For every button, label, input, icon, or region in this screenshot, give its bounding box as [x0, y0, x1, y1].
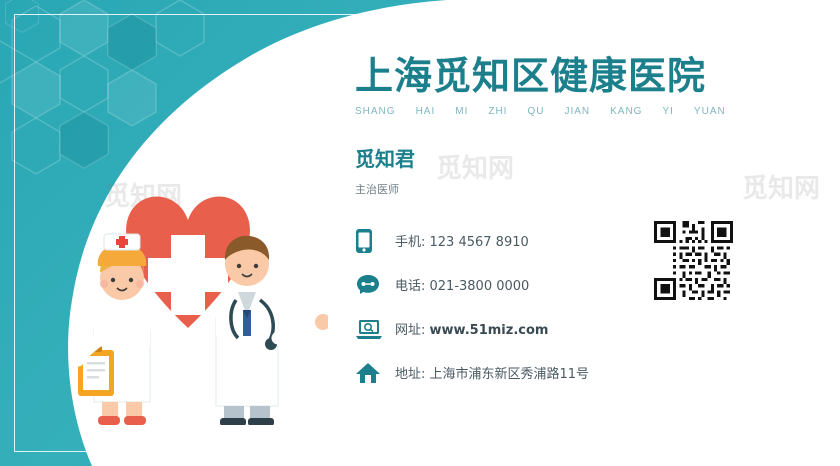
- pinyin-syllable: YI: [662, 106, 673, 117]
- business-card: 觅知网 觅知网 觅知网: [0, 0, 840, 466]
- contact-row-website: 网址: www.51miz.com: [355, 307, 825, 351]
- hospital-name: 上海觅知区健康医院: [355, 56, 825, 98]
- telephone-icon: [355, 273, 395, 297]
- person-title: 主治医师: [355, 181, 825, 197]
- pinyin-syllable: ZHI: [488, 106, 507, 117]
- pinyin-syllable: YUAN: [694, 106, 726, 117]
- doctor-nurse-illustration: [38, 160, 328, 425]
- card-content: 上海觅知区健康医院 SHANG HAI MI ZHI QU JIAN KANG …: [355, 56, 825, 395]
- laptop-icon: [355, 318, 395, 340]
- home-icon: [355, 361, 395, 385]
- pinyin-syllable: JIAN: [564, 106, 590, 117]
- person-name: 觅知君: [355, 143, 825, 172]
- contact-row-telephone: 电话: 021-3800 0000: [355, 263, 825, 307]
- contact-row-mobile: 手机: 123 4567 8910: [355, 219, 825, 263]
- pinyin-syllable: QU: [527, 106, 544, 117]
- pinyin-syllable: HAI: [416, 106, 436, 117]
- contact-website-value: www.51miz.com: [430, 323, 549, 338]
- contact-address-text: 地址: 上海市浦东新区秀浦路11号: [395, 363, 589, 382]
- pinyin-syllable: KANG: [610, 106, 642, 117]
- contact-mobile-text: 手机: 123 4567 8910: [395, 231, 529, 250]
- contact-telephone-text: 电话: 021-3800 0000: [395, 275, 529, 294]
- qr-code: [654, 221, 733, 300]
- nurse-figure: [78, 234, 150, 425]
- hospital-name-pinyin: SHANG HAI MI ZHI QU JIAN KANG YI YUAN: [355, 106, 825, 117]
- mobile-phone-icon: [355, 228, 395, 254]
- pinyin-syllable: MI: [455, 106, 468, 117]
- contact-website-text: 网址: www.51miz.com: [395, 319, 548, 338]
- contact-row-address: 地址: 上海市浦东新区秀浦路11号: [355, 351, 825, 395]
- contact-website-label: 网址:: [395, 323, 425, 338]
- contact-list: 手机: 123 4567 8910 电话: 021-3800 0000 网址: …: [355, 219, 825, 395]
- doctor-figure: [216, 236, 328, 425]
- pinyin-syllable: SHANG: [355, 106, 396, 117]
